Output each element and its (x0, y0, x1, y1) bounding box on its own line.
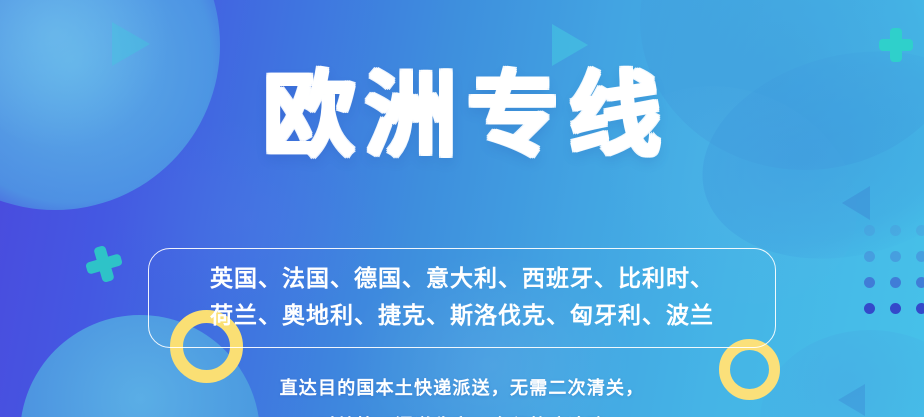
banner-title: 欧洲专线 (253, 70, 671, 162)
tagline-line-1: 直达目的国本土快递派送，无需二次清关， (280, 370, 645, 408)
banner-content: 欧洲专线 英国、法国、德国、意大利、西班牙、比利时、 荷兰、奥地利、捷克、斯洛伐… (0, 0, 924, 417)
europe-line-promo-banner: 欧洲专线 英国、法国、德国、意大利、西班牙、比利时、 荷兰、奥地利、捷克、斯洛伐… (0, 0, 924, 417)
country-list-line-2: 荷兰、奥地利、捷克、斯洛伐克、匈牙利、波兰 (169, 297, 755, 334)
country-list-box: 英国、法国、德国、意大利、西班牙、比利时、 荷兰、奥地利、捷克、斯洛伐克、匈牙利… (148, 248, 776, 349)
country-list-line-1: 英国、法国、德国、意大利、西班牙、比利时、 (169, 260, 755, 297)
tagline-line-2: 时效快，渠道稳定，全程轨迹追踪 (280, 408, 645, 417)
banner-tagline: 直达目的国本土快递派送，无需二次清关， 时效快，渠道稳定，全程轨迹追踪 (280, 370, 645, 417)
